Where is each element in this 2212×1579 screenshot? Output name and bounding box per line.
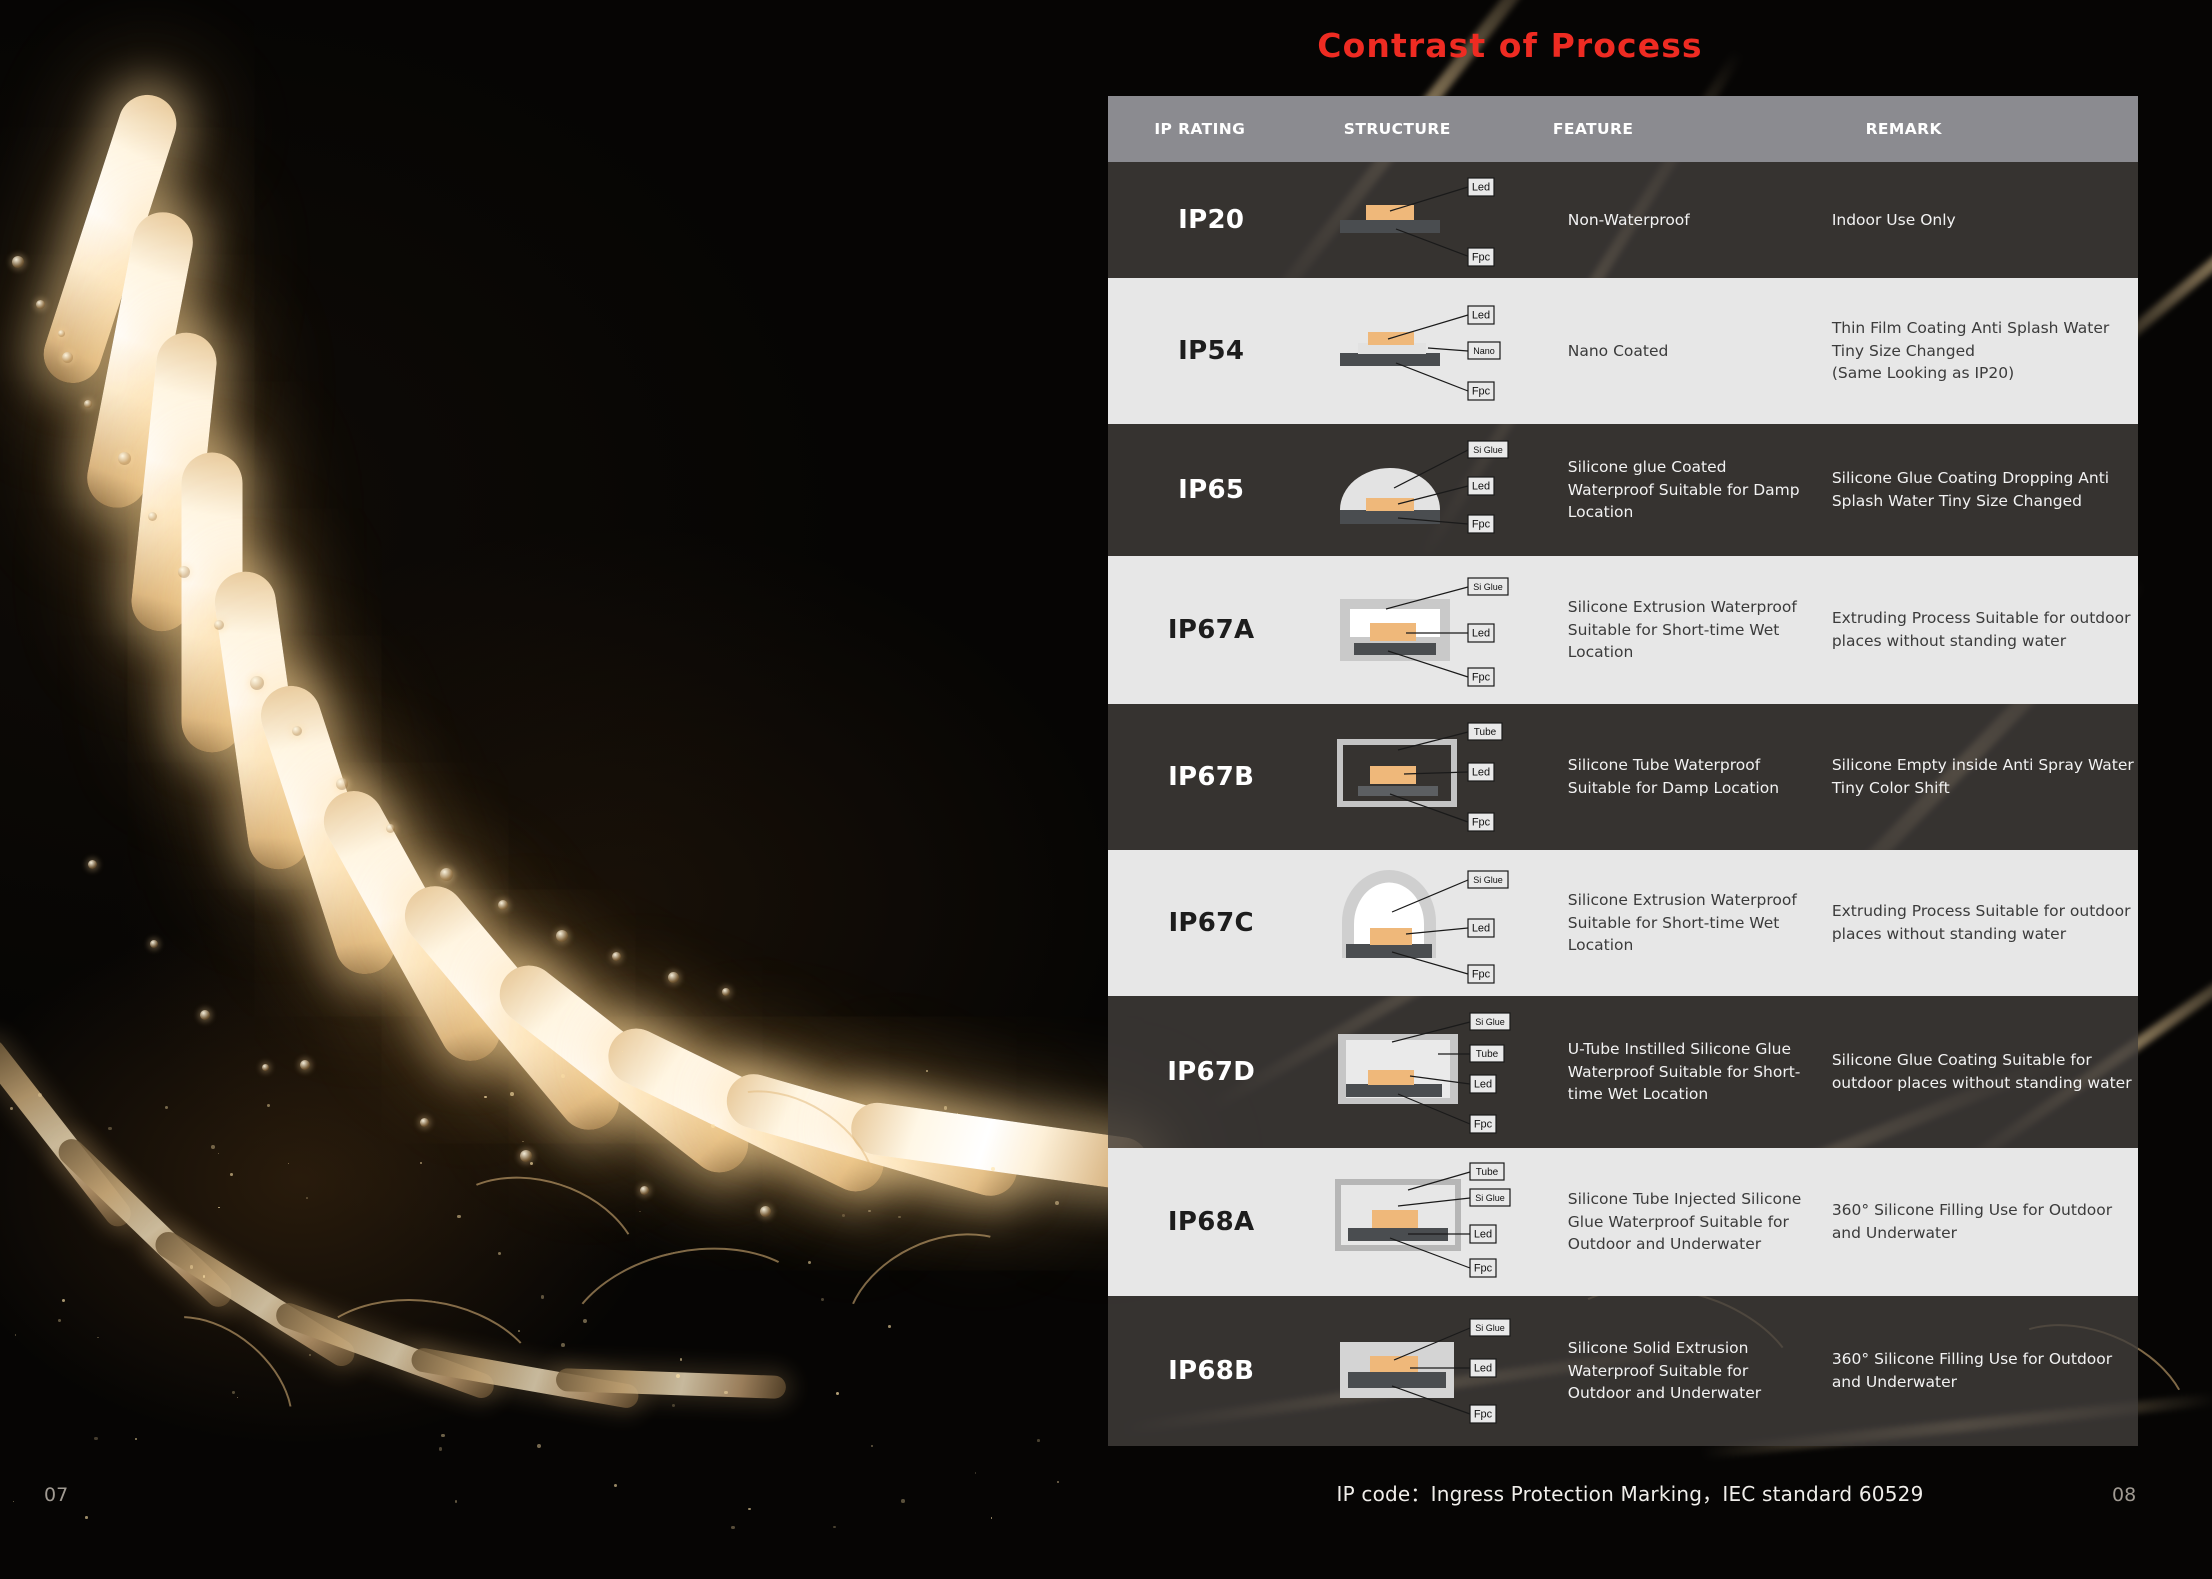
spark-highlight <box>561 1074 565 1078</box>
spark-highlight <box>510 1092 514 1096</box>
column-header-ip-rating: IP RATING <box>1108 96 1292 162</box>
ip-rating-label: IP67B <box>1168 762 1254 792</box>
spark-highlight <box>267 1104 270 1107</box>
spark-highlight <box>13 1501 14 1502</box>
cell-remark: Silicone Empty inside Anti Spray Water T… <box>1816 704 2138 850</box>
remark-text: Silicone Glue Coating Dropping Anti Spla… <box>1832 467 2138 512</box>
feature-text: Silicone glue Coated Waterproof Suitable… <box>1568 456 1816 524</box>
svg-text:Led: Led <box>1472 481 1490 493</box>
svg-text:Fpc: Fpc <box>1474 1263 1493 1275</box>
cell-structure-diagram: Si GlueLedFpc <box>1314 1296 1551 1446</box>
remark-text: Silicone Glue Coating Suitable for outdo… <box>1832 1049 2138 1094</box>
cell-remark: Silicone Glue Coating Dropping Anti Spla… <box>1816 424 2138 556</box>
remark-text: 360° Silicone Filling Use for Outdoor an… <box>1832 1348 2138 1393</box>
svg-text:Si Glue: Si Glue <box>1473 445 1503 455</box>
table-row: IP65 Si GlueLedFpc Silicone glue Coated … <box>1108 424 2138 556</box>
water-droplet <box>62 352 73 363</box>
svg-text:Si Glue: Si Glue <box>1475 1193 1505 1203</box>
cell-feature: Silicone glue Coated Waterproof Suitable… <box>1552 424 1816 556</box>
cell-feature: Silicone Solid Extrusion Waterproof Suit… <box>1552 1296 1816 1446</box>
spark-highlight <box>731 1526 734 1529</box>
water-droplet <box>200 1010 210 1020</box>
remark-text: 360° Silicone Filling Use for Outdoor an… <box>1832 1199 2138 1244</box>
cell-remark: Thin Film Coating Anti Splash Water Tiny… <box>1816 278 2138 424</box>
spark-highlight <box>821 1298 824 1301</box>
water-droplet <box>118 452 131 465</box>
water-droplet <box>178 566 190 578</box>
cell-ip-rating: IP68A <box>1108 1148 1314 1296</box>
spark-highlight <box>58 1319 61 1322</box>
spark-highlight <box>97 1337 99 1339</box>
ip-rating-label: IP20 <box>1178 205 1244 235</box>
spark-highlight <box>944 1106 947 1109</box>
svg-text:Fpc: Fpc <box>1472 969 1491 981</box>
spark-highlight <box>203 1275 205 1277</box>
light-wisp <box>819 1203 1065 1422</box>
spark-highlight <box>808 1261 811 1264</box>
table-row: IP68A TubeSi GlueLedFpc Silicone Tube In… <box>1108 1148 2138 1296</box>
page-number-left: 07 <box>44 1484 68 1506</box>
ip-rating-label: IP67D <box>1167 1057 1255 1087</box>
svg-text:Fpc: Fpc <box>1472 519 1491 531</box>
svg-text:Led: Led <box>1472 923 1490 935</box>
water-droplet <box>640 1186 649 1195</box>
cell-remark: Indoor Use Only <box>1816 162 2138 278</box>
cell-remark: 360° Silicone Filling Use for Outdoor an… <box>1816 1296 2138 1446</box>
spark-highlight <box>165 1106 168 1109</box>
spark-highlight <box>926 1070 928 1072</box>
cell-remark: Extruding Process Suitable for outdoor p… <box>1816 556 2138 704</box>
water-droplet <box>386 824 395 833</box>
remark-text: Thin Film Coating Anti Splash Water Tiny… <box>1832 317 2138 385</box>
spark-highlight <box>420 1162 422 1164</box>
feature-text: Silicone Extrusion Waterproof Suitable f… <box>1568 889 1816 957</box>
remark-text: Silicone Empty inside Anti Spray Water T… <box>1832 754 2138 799</box>
svg-text:Tube: Tube <box>1474 727 1497 738</box>
table-body: IP20 LedFpc Non-WaterproofIndoor Use Onl… <box>1108 162 2138 1446</box>
water-droplet <box>214 620 224 630</box>
spark-highlight <box>484 1096 486 1098</box>
cell-feature: Silicone Tube Waterproof Suitable for Da… <box>1552 704 1816 850</box>
cell-feature: Silicone Extrusion Waterproof Suitable f… <box>1552 850 1816 996</box>
column-header-feature: FEATURE <box>1503 96 1774 162</box>
spark-highlight <box>991 1167 995 1171</box>
cell-feature: Non-Waterproof <box>1552 162 1816 278</box>
feature-text: Nano Coated <box>1568 340 1669 363</box>
spark-highlight <box>898 1216 900 1218</box>
spark-highlight <box>135 1438 137 1440</box>
water-droplet <box>612 952 621 961</box>
spark-highlight <box>288 1163 289 1164</box>
structure-diagram-ip20: LedFpc <box>1318 162 1548 278</box>
feature-text: Silicone Solid Extrusion Waterproof Suit… <box>1568 1337 1816 1405</box>
svg-text:Led: Led <box>1472 767 1490 779</box>
svg-text:Si Glue: Si Glue <box>1473 875 1503 885</box>
spark-highlight <box>833 1526 836 1529</box>
water-droplet <box>12 256 24 268</box>
cell-structure-diagram: TubeSi GlueLedFpc <box>1314 1148 1551 1296</box>
water-droplet <box>420 1118 429 1127</box>
cell-remark: Silicone Glue Coating Suitable for outdo… <box>1816 996 2138 1148</box>
spark-highlight <box>190 1265 194 1269</box>
feature-text: Non-Waterproof <box>1568 209 1690 232</box>
feature-text: Silicone Tube Injected Silicone Glue Wat… <box>1568 1188 1816 1256</box>
cell-ip-rating: IP67D <box>1108 996 1314 1148</box>
structure-diagram-ip68b: Si GlueLedFpc <box>1318 1296 1548 1446</box>
svg-text:Si Glue: Si Glue <box>1473 582 1503 592</box>
feature-text: Silicone Tube Waterproof Suitable for Da… <box>1568 754 1816 799</box>
cell-ip-rating: IP65 <box>1108 424 1314 556</box>
table-row: IP67D Si GlueTubeLedFpc U-Tube Instilled… <box>1108 996 2138 1148</box>
spark-highlight <box>218 1207 220 1209</box>
cell-structure-diagram: Si GlueLedFpc <box>1314 556 1551 704</box>
water-droplet <box>58 330 65 337</box>
water-droplet <box>148 512 157 521</box>
table-row: IP20 LedFpc Non-WaterproofIndoor Use Onl… <box>1108 162 2138 278</box>
spark-highlight <box>537 1444 541 1448</box>
cell-ip-rating: IP67B <box>1108 704 1314 850</box>
structure-diagram-ip67a: Si GlueLedFpc <box>1318 556 1548 704</box>
water-droplet <box>498 900 508 910</box>
ip-rating-label: IP67C <box>1168 908 1254 938</box>
water-droplet <box>84 400 92 408</box>
svg-text:Led: Led <box>1474 1363 1492 1375</box>
cell-structure-diagram: TubeLedFpc <box>1314 704 1551 850</box>
svg-text:Fpc: Fpc <box>1472 252 1491 264</box>
svg-text:Led: Led <box>1472 628 1490 640</box>
ip-rating-label: IP65 <box>1178 475 1244 505</box>
svg-text:Led: Led <box>1472 182 1490 194</box>
remark-text: Extruding Process Suitable for outdoor p… <box>1832 900 2138 945</box>
cell-structure-diagram: LedNanoFpc <box>1314 278 1551 424</box>
structure-diagram-ip68a: TubeSi GlueLedFpc <box>1318 1148 1548 1296</box>
cell-feature: Silicone Extrusion Waterproof Suitable f… <box>1552 556 1816 704</box>
spark-highlight <box>15 1334 17 1336</box>
page-title: Contrast of Process <box>1300 26 1720 65</box>
cell-ip-rating: IP68B <box>1108 1296 1314 1446</box>
cell-remark: 360° Silicone Filling Use for Outdoor an… <box>1816 1148 2138 1296</box>
svg-text:Tube: Tube <box>1476 1167 1499 1178</box>
spark-highlight <box>455 1500 457 1502</box>
cell-ip-rating: IP67A <box>1108 556 1314 704</box>
water-droplet <box>722 988 730 996</box>
svg-text:Led: Led <box>1474 1079 1492 1091</box>
spark-highlight <box>38 1093 42 1097</box>
svg-text:Fpc: Fpc <box>1472 386 1491 398</box>
water-droplet <box>88 860 97 869</box>
water-droplet <box>668 972 679 983</box>
process-comparison-table: IP RATING STRUCTURE FEATURE REMARK IP20 … <box>1108 96 2138 1446</box>
spark-highlight <box>306 1197 308 1199</box>
spark-highlight <box>957 1113 958 1114</box>
spark-highlight <box>108 1127 111 1130</box>
structure-diagram-ip67d: Si GlueTubeLedFpc <box>1318 996 1548 1148</box>
svg-text:Si Glue: Si Glue <box>1475 1323 1505 1333</box>
spark-highlight <box>991 1517 993 1519</box>
cell-structure-diagram: Si GlueLedFpc <box>1314 424 1551 556</box>
water-droplet <box>250 676 264 690</box>
spark-highlight <box>901 1499 905 1503</box>
spark-highlight <box>1037 1439 1040 1442</box>
water-droplet <box>262 1064 269 1071</box>
cell-feature: Nano Coated <box>1552 278 1816 424</box>
spark-highlight <box>836 1392 839 1395</box>
table-row: IP67A Si GlueLedFpc Silicone Extrusion W… <box>1108 556 2138 704</box>
column-header-remark: REMARK <box>1774 96 2138 162</box>
cell-feature: U-Tube Instilled Silicone Glue Waterproo… <box>1552 996 1816 1148</box>
cell-structure-diagram: LedFpc <box>1314 162 1551 278</box>
spark-highlight <box>748 1508 751 1511</box>
remark-text: Indoor Use Only <box>1832 209 1956 232</box>
spark-highlight <box>10 1107 13 1110</box>
spark-highlight <box>1055 1201 1059 1205</box>
spark-highlight <box>530 1162 533 1165</box>
spark-highlight <box>639 1211 640 1212</box>
table-row: IP67C Si GlueLedFpc Silicone Extrusion W… <box>1108 850 2138 996</box>
ip-rating-label: IP67A <box>1168 615 1255 645</box>
spark-highlight <box>62 1299 65 1302</box>
cell-feature: Silicone Tube Injected Silicone Glue Wat… <box>1552 1148 1816 1296</box>
water-droplet <box>520 1150 532 1162</box>
water-droplet <box>150 940 158 948</box>
svg-text:Si Glue: Si Glue <box>1475 1017 1505 1027</box>
table-header-row: IP RATING STRUCTURE FEATURE REMARK <box>1108 96 2138 162</box>
cell-ip-rating: IP54 <box>1108 278 1314 424</box>
water-droplet <box>556 930 568 942</box>
water-droplet <box>300 1060 310 1070</box>
svg-text:Led: Led <box>1472 310 1490 322</box>
spark-highlight <box>871 1445 873 1447</box>
table-row: IP67B TubeLedFpc Silicone Tube Waterproo… <box>1108 704 2138 850</box>
spark-highlight <box>975 1472 977 1474</box>
cell-ip-rating: IP67C <box>1108 850 1314 996</box>
feature-text: Silicone Extrusion Waterproof Suitable f… <box>1568 596 1816 664</box>
spark-highlight <box>94 1437 98 1441</box>
cell-structure-diagram: Si GlueLedFpc <box>1314 850 1551 996</box>
spark-highlight <box>85 1516 88 1519</box>
ip-rating-label: IP68A <box>1168 1207 1255 1237</box>
water-droplet <box>292 726 302 736</box>
spark-highlight <box>218 1153 219 1154</box>
spark-highlight <box>1057 1481 1059 1483</box>
spark-highlight <box>211 1145 215 1149</box>
spark-highlight <box>522 1141 524 1143</box>
ip-rating-label: IP68B <box>1168 1356 1254 1386</box>
structure-diagram-ip65: Si GlueLedFpc <box>1318 424 1548 556</box>
svg-text:Led: Led <box>1474 1229 1492 1241</box>
cell-structure-diagram: Si GlueTubeLedFpc <box>1314 996 1551 1148</box>
table-row: IP54 LedNanoFpc Nano CoatedThin Film Coa… <box>1108 278 2138 424</box>
feature-text: U-Tube Instilled Silicone Glue Waterproo… <box>1568 1038 1816 1106</box>
svg-text:Fpc: Fpc <box>1472 672 1491 684</box>
ip-rating-label: IP54 <box>1178 336 1244 366</box>
footer-note: IP code：Ingress Protection Marking，IEC s… <box>1250 1478 2010 1507</box>
water-droplet <box>36 300 45 309</box>
svg-text:Nano: Nano <box>1473 346 1495 356</box>
page-number-right: 08 <box>2112 1484 2136 1506</box>
spark-highlight <box>230 1173 233 1176</box>
structure-diagram-ip67c: Si GlueLedFpc <box>1318 850 1548 996</box>
water-droplet <box>336 778 348 790</box>
cell-remark: Extruding Process Suitable for outdoor p… <box>1816 850 2138 996</box>
column-header-structure: STRUCTURE <box>1292 96 1503 162</box>
structure-diagram-ip67b: TubeLedFpc <box>1318 704 1548 850</box>
structure-diagram-ip54: LedNanoFpc <box>1318 278 1548 424</box>
table-row: IP68B Si GlueLedFpc Silicone Solid Extru… <box>1108 1296 2138 1446</box>
spark-highlight <box>614 1484 617 1487</box>
cell-ip-rating: IP20 <box>1108 162 1314 278</box>
svg-text:Fpc: Fpc <box>1472 817 1491 829</box>
remark-text: Extruding Process Suitable for outdoor p… <box>1832 607 2138 652</box>
svg-text:Fpc: Fpc <box>1474 1409 1493 1421</box>
water-droplet <box>440 868 453 881</box>
svg-text:Fpc: Fpc <box>1474 1119 1493 1131</box>
svg-text:Tube: Tube <box>1476 1049 1499 1060</box>
